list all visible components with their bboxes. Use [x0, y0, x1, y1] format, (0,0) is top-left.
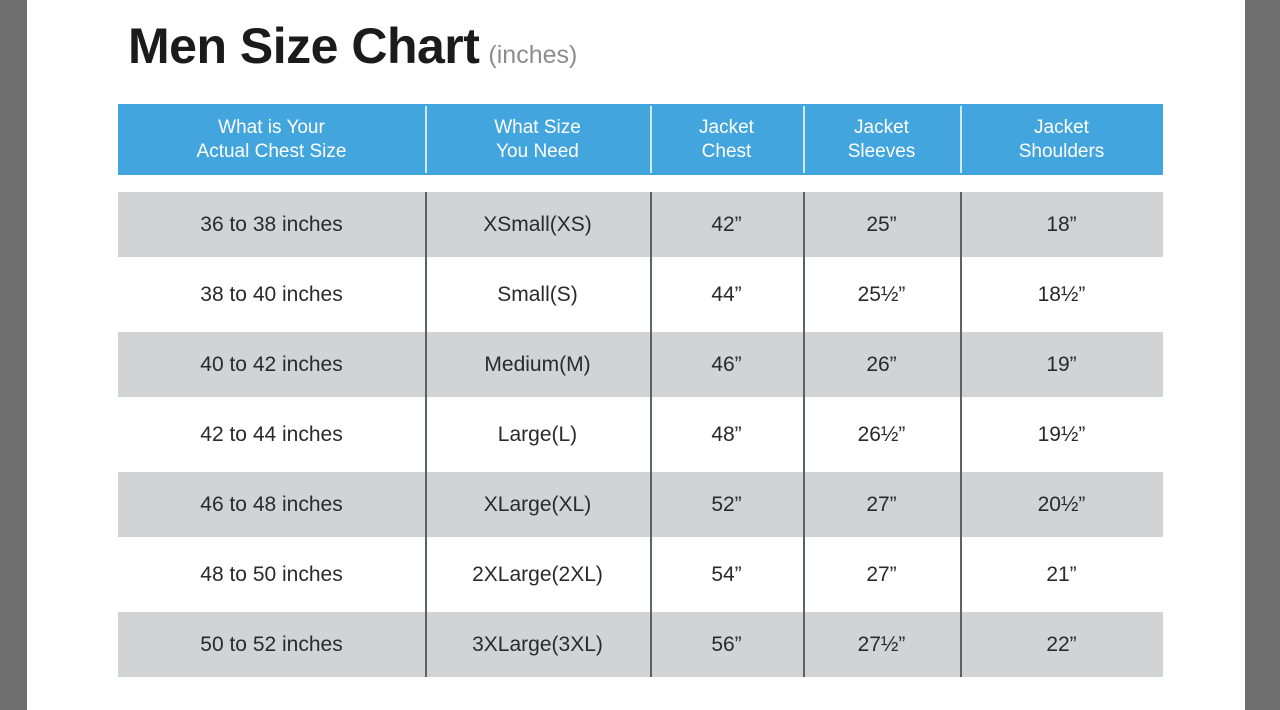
cell-jacket-chest: 42”	[650, 192, 803, 257]
cell-jacket-chest: 44”	[650, 262, 803, 327]
title-main-text: Men Size Chart	[128, 21, 479, 71]
slide-content: Men Size Chart (inches) What is Your Act…	[27, 0, 1245, 710]
column-header-line1: Jacket	[854, 116, 909, 139]
cell-jacket-shoulders: 19½”	[960, 402, 1163, 467]
table-row: 48 to 50 inches 2XLarge(2XL) 54” 27” 21”	[118, 542, 1163, 607]
cell-chest-range: 42 to 44 inches	[118, 402, 425, 467]
cell-jacket-shoulders: 21”	[960, 542, 1163, 607]
column-header-actual-chest-size: What is Your Actual Chest Size	[118, 104, 425, 175]
column-divider-1	[425, 192, 427, 677]
table-header-row: What is Your Actual Chest Size What Size…	[118, 104, 1163, 175]
cell-chest-range: 48 to 50 inches	[118, 542, 425, 607]
column-header-line2: You Need	[496, 140, 579, 163]
cell-jacket-sleeves: 27”	[803, 472, 960, 537]
table-row: 42 to 44 inches Large(L) 48” 26½” 19½”	[118, 402, 1163, 467]
cell-size-needed: XLarge(XL)	[425, 472, 650, 537]
column-header-size-you-need: What Size You Need	[425, 104, 650, 175]
slide-canvas: Men Size Chart (inches) What is Your Act…	[0, 0, 1280, 710]
cell-jacket-sleeves: 25½”	[803, 262, 960, 327]
cell-chest-range: 40 to 42 inches	[118, 332, 425, 397]
table-row: 46 to 48 inches XLarge(XL) 52” 27” 20½”	[118, 472, 1163, 537]
cell-jacket-chest: 52”	[650, 472, 803, 537]
cell-jacket-sleeves: 25”	[803, 192, 960, 257]
page-title: Men Size Chart (inches)	[128, 21, 577, 71]
column-header-line2: Shoulders	[1019, 140, 1105, 163]
table-row: 36 to 38 inches XSmall(XS) 42” 25” 18”	[118, 192, 1163, 257]
cell-jacket-chest: 56”	[650, 612, 803, 677]
cell-chest-range: 46 to 48 inches	[118, 472, 425, 537]
column-header-line1: Jacket	[1034, 116, 1089, 139]
column-header-jacket-chest: Jacket Chest	[650, 104, 803, 175]
column-header-line2: Chest	[702, 140, 752, 163]
column-divider-3	[803, 192, 805, 677]
cell-jacket-shoulders: 19”	[960, 332, 1163, 397]
column-header-jacket-sleeves: Jacket Sleeves	[803, 104, 960, 175]
cell-jacket-chest: 54”	[650, 542, 803, 607]
column-header-line2: Actual Chest Size	[197, 140, 347, 163]
cell-size-needed: Medium(M)	[425, 332, 650, 397]
cell-chest-range: 50 to 52 inches	[118, 612, 425, 677]
cell-size-needed: Small(S)	[425, 262, 650, 327]
letterbox-right	[1245, 0, 1280, 710]
letterbox-left	[0, 0, 27, 710]
column-divider-2	[650, 192, 652, 677]
cell-size-needed: 3XLarge(3XL)	[425, 612, 650, 677]
table-row: 40 to 42 inches Medium(M) 46” 26” 19”	[118, 332, 1163, 397]
column-header-jacket-shoulders: Jacket Shoulders	[960, 104, 1163, 175]
column-header-line1: Jacket	[699, 116, 754, 139]
table-row: 38 to 40 inches Small(S) 44” 25½” 18½”	[118, 262, 1163, 327]
column-header-line1: What is Your	[218, 116, 325, 139]
cell-jacket-sleeves: 27½”	[803, 612, 960, 677]
table-body: 36 to 38 inches XSmall(XS) 42” 25” 18” 3…	[118, 192, 1163, 677]
size-chart-table: What is Your Actual Chest Size What Size…	[118, 104, 1163, 682]
cell-jacket-sleeves: 26½”	[803, 402, 960, 467]
cell-size-needed: Large(L)	[425, 402, 650, 467]
cell-jacket-chest: 46”	[650, 332, 803, 397]
cell-chest-range: 36 to 38 inches	[118, 192, 425, 257]
cell-jacket-sleeves: 26”	[803, 332, 960, 397]
cell-size-needed: 2XLarge(2XL)	[425, 542, 650, 607]
cell-jacket-shoulders: 22”	[960, 612, 1163, 677]
column-divider-4	[960, 192, 962, 677]
column-header-line2: Sleeves	[848, 140, 916, 163]
title-unit-text: (inches)	[488, 43, 577, 68]
column-header-line1: What Size	[494, 116, 581, 139]
cell-chest-range: 38 to 40 inches	[118, 262, 425, 327]
cell-jacket-shoulders: 18½”	[960, 262, 1163, 327]
cell-size-needed: XSmall(XS)	[425, 192, 650, 257]
cell-jacket-shoulders: 20½”	[960, 472, 1163, 537]
cell-jacket-chest: 48”	[650, 402, 803, 467]
cell-jacket-shoulders: 18”	[960, 192, 1163, 257]
table-row: 50 to 52 inches 3XLarge(3XL) 56” 27½” 22…	[118, 612, 1163, 677]
cell-jacket-sleeves: 27”	[803, 542, 960, 607]
